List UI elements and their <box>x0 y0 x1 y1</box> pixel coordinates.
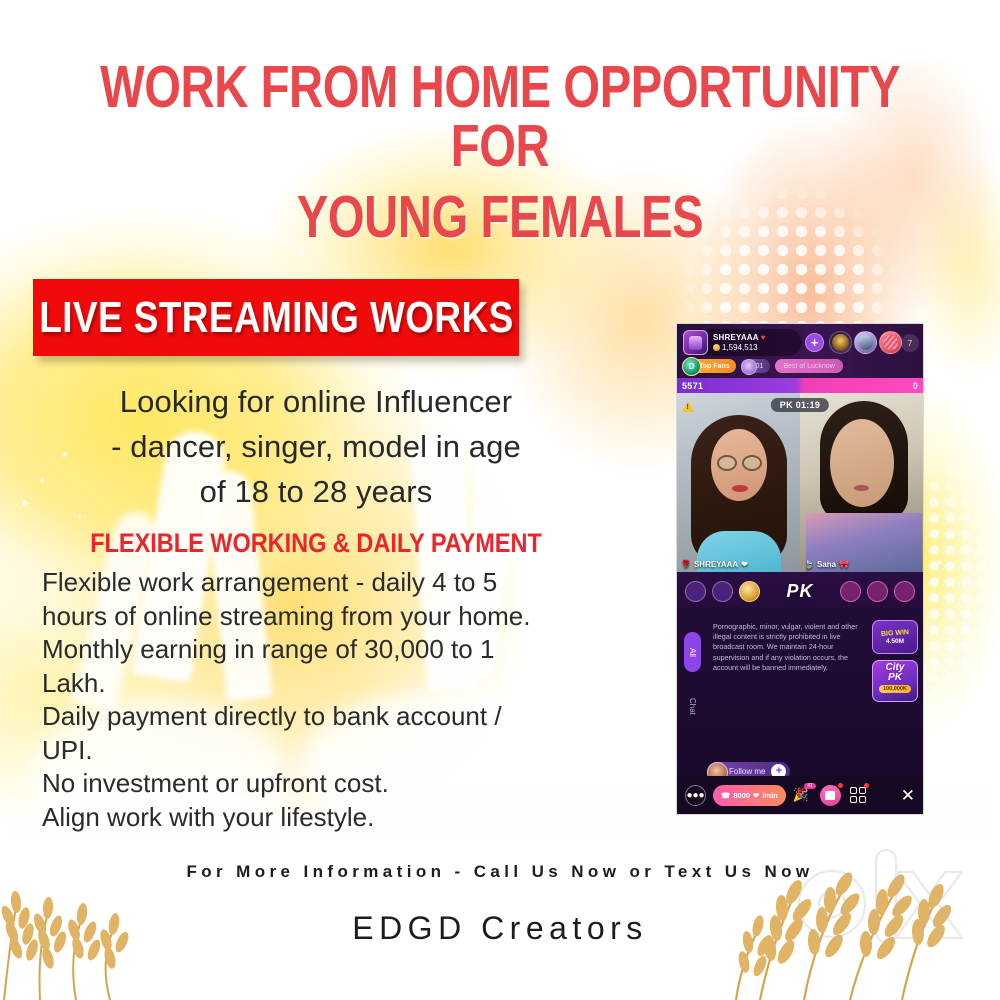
body-line: Daily payment directly to bank account / <box>42 700 622 734</box>
grid-cell <box>850 787 857 794</box>
body-line: Align work with your lifestyle. <box>42 801 622 835</box>
grid-cell <box>859 787 866 794</box>
phone-icon: ☎ <box>721 791 730 800</box>
room-title-badge[interactable]: Best of Lucknow <box>775 359 842 373</box>
supporter-avatar-icon[interactable] <box>685 581 706 602</box>
supporter-avatar-icon[interactable] <box>867 581 888 602</box>
supporter-avatar-gold-icon[interactable] <box>739 581 760 602</box>
brand-name: EDGD Creators <box>0 910 1000 947</box>
left-streamer-name: SHREYAAA <box>694 560 738 569</box>
live-stream-app-screenshot: SHREYAAA♥ 1,594,513 + 7 Top Fans 01 Best… <box>676 323 924 815</box>
lead-line-2: - dancer, singer, model in age <box>36 425 596 470</box>
portrait-lips <box>854 485 869 491</box>
stream-bottom-toolbar: ●●● ☎ 8000 ❤ /min 41 ✕ <box>677 776 923 814</box>
pk-right-supporters <box>840 581 915 602</box>
portrait-face <box>830 419 894 507</box>
bow-emoji-icon: 🎀 <box>839 560 849 569</box>
city-pk-promo-badge[interactable]: City PK 100,000K <box>872 660 918 702</box>
host-profile-card[interactable]: SHREYAAA♥ 1,594,513 <box>682 329 802 356</box>
sparkle-speck <box>300 250 305 255</box>
supporter-avatar-icon[interactable] <box>712 581 733 602</box>
party-popper-icon[interactable]: 41 <box>793 785 813 805</box>
video-tile-left[interactable]: 🌹 SHREYAAA ❤ <box>677 393 800 572</box>
gift-count-badge: 41 <box>804 783 816 789</box>
host-name: SHREYAAA <box>713 333 759 342</box>
host-name-row: SHREYAAA♥ <box>713 333 766 342</box>
headline-line-1: WORK FROM HOME OPPORTUNITY FOR <box>100 54 900 179</box>
host-info: SHREYAAA♥ 1,594,513 <box>713 333 766 352</box>
tab-all-label: All <box>688 648 697 657</box>
pk-countdown-timer: PK 01:19 <box>771 398 829 412</box>
video-tile-right[interactable]: 🍃 Sana 🎀 <box>800 393 923 572</box>
heart-icon: ♥ <box>761 333 766 342</box>
pk-score-progress-bar: 5571 0 <box>677 378 923 393</box>
body-line: UPI. <box>42 734 622 768</box>
viewer-count-badge[interactable]: 7 <box>901 334 919 352</box>
top-fans-badge[interactable]: Top Fans <box>683 359 736 373</box>
flexible-working-subhead: FLEXIBLE WORKING & DAILY PAYMENT <box>72 528 559 559</box>
sparkle-speck <box>938 560 942 564</box>
chat-filter-tabs: All Chat <box>684 632 701 722</box>
lead-paragraph: Looking for online Influencer - dancer, … <box>36 380 596 515</box>
follow-host-button[interactable]: + <box>805 333 824 352</box>
chat-bubble-icon[interactable]: ●●● <box>685 785 706 806</box>
coin-value: 1,594,513 <box>722 343 758 352</box>
host-coin-count: 1,594,513 <box>713 343 766 352</box>
grid-cell <box>850 796 857 803</box>
call-unit: /min <box>762 791 777 800</box>
rose-emoji-icon: 🌹 <box>681 560 691 569</box>
body-line: Flexible work arrangement - daily 4 to 5 <box>42 566 622 600</box>
sparkle-speck <box>78 515 81 518</box>
poster-headline: WORK FROM HOME OPPORTUNITY FOR YOUNG FEM… <box>100 58 900 247</box>
portrait-lips <box>732 485 748 492</box>
sparkle-speck <box>648 690 652 694</box>
big-win-title: BIG WIN <box>881 629 909 638</box>
poster-canvas: WORK FROM HOME OPPORTUNITY FOR YOUNG FEM… <box>0 0 1000 1000</box>
live-streaming-banner: LIVE STREAMING WORKS <box>33 279 519 356</box>
gift-box-icon[interactable] <box>820 785 841 806</box>
body-line: Lakh. <box>42 667 622 701</box>
grid-cell <box>859 796 866 803</box>
body-line: hours of online streaming from your home… <box>42 600 622 634</box>
pk-center-label: PK <box>786 581 813 602</box>
pk-supporter-toolbar: PK <box>677 572 923 610</box>
sparkle-speck <box>955 470 961 476</box>
headline-line-2: YOUNG FEMALES <box>100 188 900 247</box>
viewer-avatar[interactable] <box>854 331 877 354</box>
options-notification-dot <box>864 783 869 788</box>
more-options-grid-icon[interactable] <box>848 785 868 805</box>
warning-triangle-icon <box>682 401 694 412</box>
banner-label: LIVE STREAMING WORKS <box>39 293 514 343</box>
private-call-button[interactable]: ☎ 8000 ❤ /min <box>713 785 786 806</box>
right-streamer-name: Sana <box>817 560 836 569</box>
big-win-value: 4.50M <box>886 638 904 645</box>
city-pk-title-line2: PK <box>888 673 902 683</box>
chat-and-notice-area: All Chat Pornographic, minor, vulgar, vi… <box>677 610 923 778</box>
body-line: No investment or upfront cost. <box>42 767 622 801</box>
benefits-body-text: Flexible work arrangement - daily 4 to 5… <box>42 566 622 834</box>
tab-chat[interactable]: Chat <box>684 690 701 722</box>
sparkle-speck <box>22 500 28 506</box>
content-policy-notice: Pornographic, minor, vulgar, violent and… <box>713 622 863 673</box>
viewer-avatar[interactable] <box>829 331 852 354</box>
close-icon[interactable]: ✕ <box>901 787 915 804</box>
contact-footer-line: For More Information - Call Us Now or Te… <box>0 862 1000 882</box>
level-badge[interactable]: 01 <box>741 359 771 373</box>
call-price: 8000 <box>733 791 750 800</box>
pk-score-right: 0 <box>913 381 918 391</box>
stream-header-bar: SHREYAAA♥ 1,594,513 + 7 Top Fans 01 Best… <box>677 324 923 378</box>
coin-icon <box>713 344 720 351</box>
coin-icon: ❤ <box>753 791 759 800</box>
leaf-emoji-icon: 🍃 <box>804 560 814 569</box>
body-line: Monthly earning in range of 30,000 to 1 <box>42 633 622 667</box>
tab-all[interactable]: All <box>684 632 701 672</box>
eyeglasses-right-lens-icon <box>742 455 762 471</box>
pk-score-left: 5571 <box>682 381 703 391</box>
pk-left-supporters <box>685 581 760 602</box>
supporter-avatar-icon[interactable] <box>894 581 915 602</box>
viewer-avatar[interactable] <box>879 331 902 354</box>
tab-chat-label: Chat <box>688 698 697 715</box>
badge-row: Top Fans 01 Best of Lucknow <box>683 359 843 373</box>
heart-emoji-icon: ❤ <box>741 560 748 569</box>
host-avatar[interactable] <box>683 330 708 355</box>
lead-line-1: Looking for online Influencer <box>36 380 596 425</box>
big-win-promo-badge[interactable]: BIG WIN 4.50M <box>872 620 918 654</box>
right-streamer-name-label: 🍃 Sana 🎀 <box>804 560 849 569</box>
lead-line-3: of 18 to 28 years <box>36 470 596 515</box>
city-pk-value: 100,000K <box>879 685 911 693</box>
gift-notification-dot <box>838 783 843 788</box>
left-streamer-name-label: 🌹 SHREYAAA ❤ <box>681 560 748 569</box>
wheat-decoration-right <box>720 810 960 1000</box>
follow-me-label: Follow me <box>729 767 765 776</box>
pk-video-area: 🌹 SHREYAAA ❤ 🍃 Sana 🎀 PK 01:19 <box>677 393 923 572</box>
eyeglasses-left-lens-icon <box>717 455 737 471</box>
supporter-avatar-icon[interactable] <box>840 581 861 602</box>
